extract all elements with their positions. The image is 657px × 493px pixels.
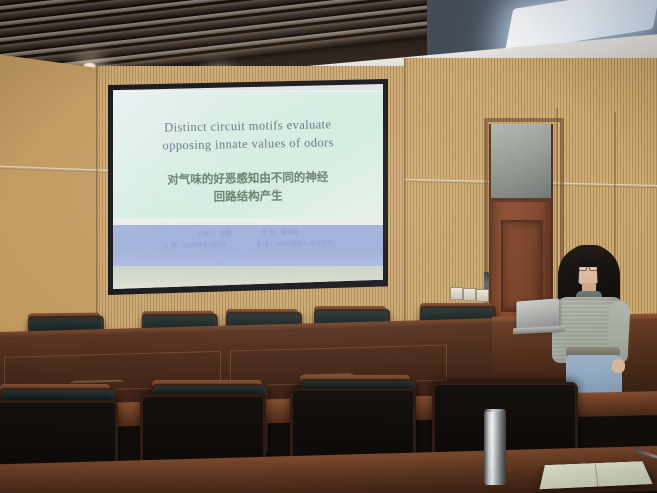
slide-major: 专 业：2025级硕士 生化方向 [256, 238, 333, 250]
door-inset-panel [501, 220, 543, 312]
slide-date: 日 期：2025年12月5日 [163, 240, 226, 252]
slide-presenter: 汇报人：彭静 [197, 229, 232, 240]
wall-switch-plate[interactable] [476, 289, 489, 302]
slide-title-chinese: 对气味的好恶感知由不同的神经 回路结构产生 [113, 168, 383, 208]
wall-switch-plate[interactable] [450, 287, 463, 300]
projection-screen: Distinct circuit motifs evaluate opposin… [113, 84, 383, 289]
person-hand [612, 359, 625, 373]
slide-title-english: Distinct circuit motifs evaluate opposin… [113, 114, 383, 155]
thermos-bottle[interactable] [484, 412, 506, 485]
conference-room-photo: Distinct circuit motifs evaluate opposin… [0, 0, 657, 493]
slide-content: Distinct circuit motifs evaluate opposin… [113, 84, 383, 289]
slide-metadata: 汇报人：彭静 导 师：赵军成 日 期：2025年12月5日 专 业：2025级硕… [113, 226, 383, 252]
wall-switch-plate[interactable] [463, 288, 476, 301]
door-glass-panel [491, 124, 551, 202]
slide-advisor: 导 师：赵军成 [262, 228, 299, 239]
